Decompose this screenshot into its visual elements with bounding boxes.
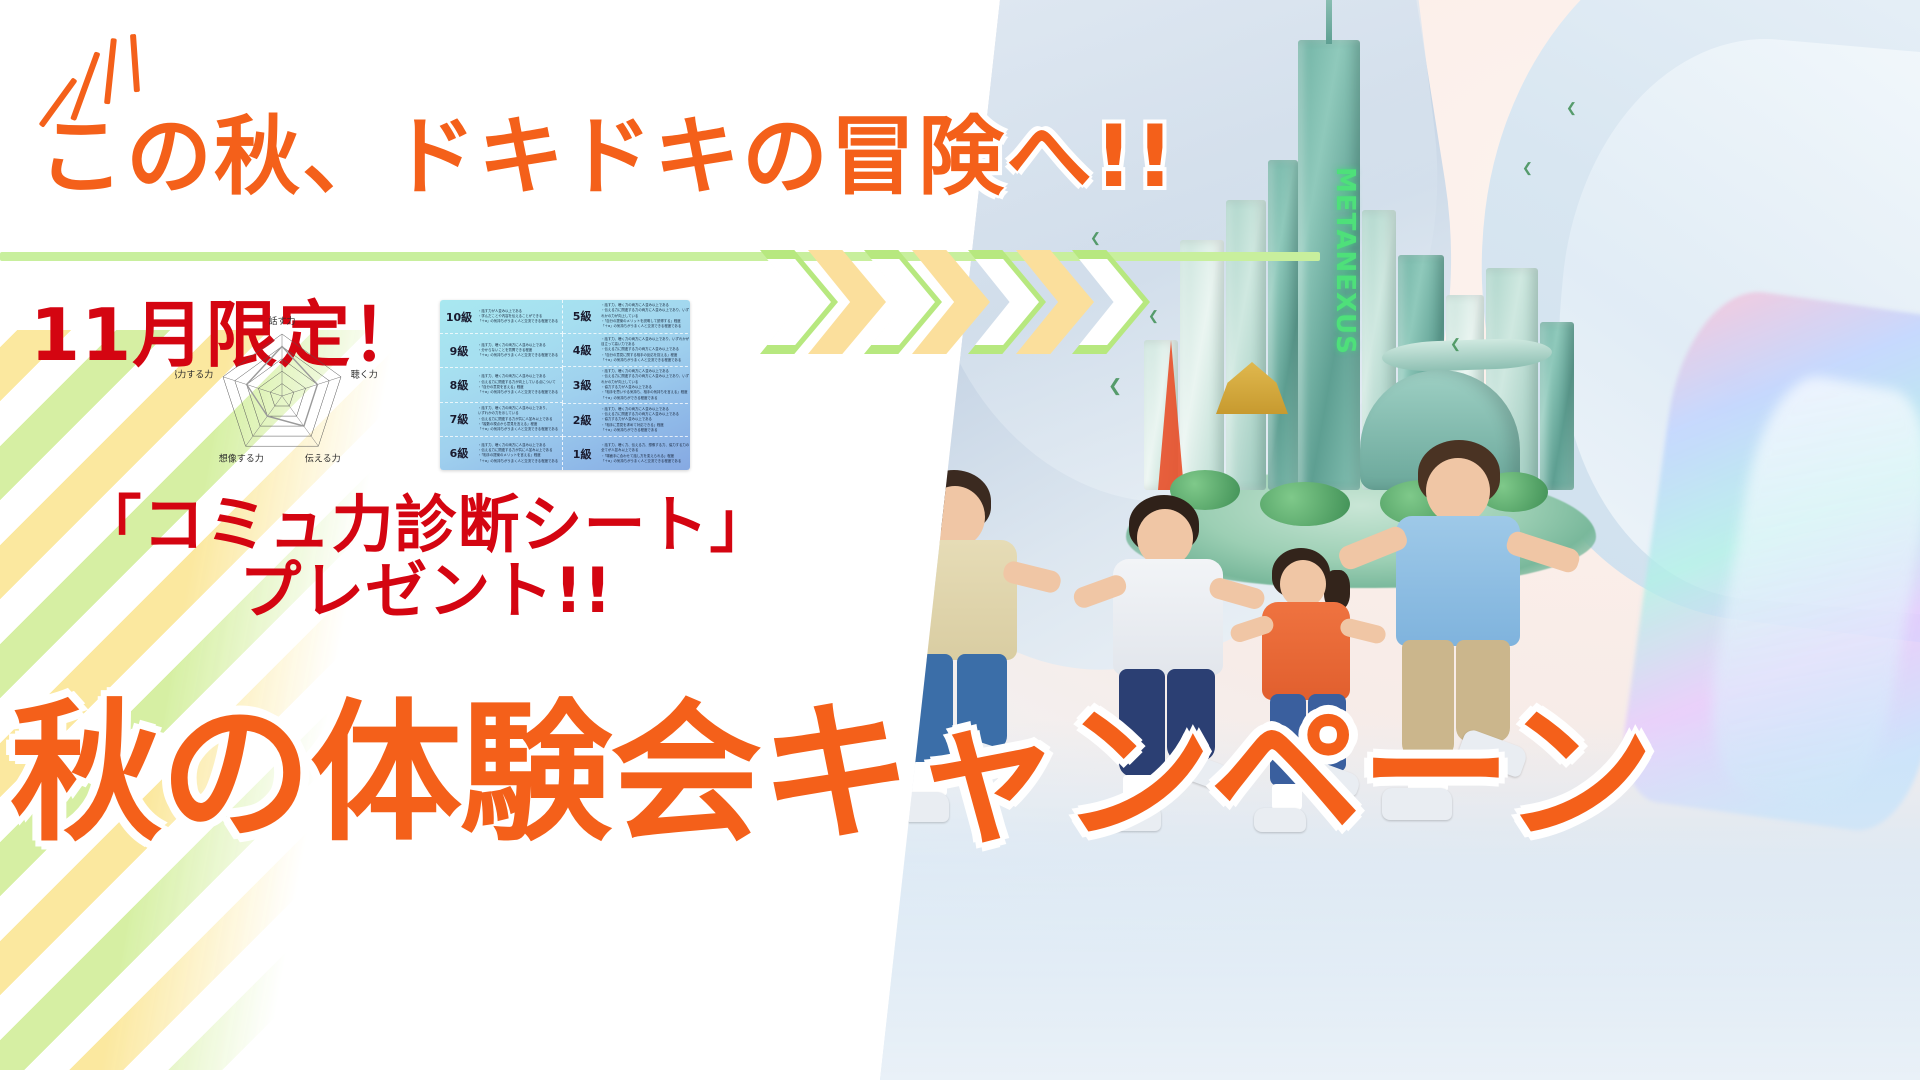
shirt	[1396, 516, 1520, 646]
sheet-row: 8級・話す力、聴く力の両方に人並み以上である・伝える力に関連する力が向上している…	[440, 368, 563, 402]
sheet-criteria-text: ・話す力、聴く力の両方に人並み以上である・伝える力に関連する力の両方に人並み以上…	[601, 369, 689, 401]
sheet-row: 5級・話す力、聴く力の両方に人並み以上である・伝える力に関連する力の両方に人並み…	[563, 300, 690, 334]
sheet-row: 2級・話す力、聴く力の両方に人並み以上である・伝える力に関連する力の両方に人並み…	[563, 404, 690, 438]
sheet-criteria-text: ・話す力、聴く力の両方に人並み以上であり、いずれかが目立って高い力である・伝える…	[601, 337, 689, 363]
red-tower	[1158, 340, 1184, 490]
radar-label: 聴く力	[351, 369, 378, 381]
sheet-grade-label: 6級	[444, 445, 474, 461]
diagnosis-sheet-table: 10級・話す力が人並み以上である・学んだことや内容を伝えることができる「＋α」の…	[440, 300, 690, 470]
present-line-2: プレゼント!!	[66, 558, 786, 624]
sheet-grade-label: 5級	[567, 308, 597, 324]
sheet-row: 10級・話す力が人並み以上である・学んだことや内容を伝えることができる「＋α」の…	[440, 300, 563, 334]
sheet-row: 7級・話す力、聴く力の両方に人並み以上であり、いずれかの力を示している・伝える力…	[440, 403, 563, 437]
building	[1180, 240, 1224, 490]
sheet-column-right: 5級・話す力、聴く力の両方に人並み以上である・伝える力に関連する力の両方に人並み…	[563, 300, 690, 470]
present-callout: 「コミュ力診断シート」 プレゼント!!	[66, 492, 786, 623]
building	[1226, 200, 1266, 490]
metanexus-label: METANEXUS	[1302, 136, 1356, 386]
sheet-grade-label: 3級	[567, 377, 597, 393]
sheet-grade-label: 9級	[444, 343, 474, 359]
sheet-criteria-text: ・話す力、聴く力、伝える力、想像する力、協力する力の全てが人並み以上である・「場…	[601, 443, 689, 464]
sheet-criteria-text: ・話す力、聴く力の両方に人並み以上である・伝える力に関連する力が共に人並み以上で…	[478, 443, 558, 464]
sheet-criteria-text: ・話す力、聴く力の両方に人並み以上である・伝える力に関連する力の両方に人並み以上…	[601, 407, 679, 433]
head	[1426, 458, 1490, 524]
radar-label: 想像する力	[219, 452, 264, 464]
sheet-grade-label: 2級	[567, 412, 597, 428]
sheet-grade-label: 10級	[444, 309, 474, 325]
page-headline: この秋、ドキドキの冒険へ!!	[38, 86, 1176, 211]
sheet-grade-label: 7級	[444, 411, 474, 427]
sheet-grade-label: 8級	[444, 377, 474, 393]
head	[1280, 560, 1326, 608]
radar-label: 話す力	[268, 315, 295, 327]
content-column: この秋、ドキドキの冒険へ!! 11月限定！ 話す力聴く力伝える力想像する力協力す…	[0, 0, 1160, 1080]
radar-label: 伝える力	[305, 452, 341, 464]
bird-icon: ❮	[1566, 100, 1577, 116]
building	[1268, 160, 1298, 490]
tower-spire	[1326, 0, 1332, 44]
present-line-1: 「コミュ力診断シート」	[66, 492, 786, 558]
radar-label: 協力する力	[175, 369, 213, 381]
sheet-row: 4級・話す力、聴く力の両方に人並み以上であり、いずれかが目立って高い力である・伝…	[563, 334, 690, 368]
radar-chart: 話す力聴く力伝える力想像する力協力する力	[175, 300, 390, 490]
sheet-grade-label: 4級	[567, 342, 597, 358]
promo-banner: METANEXUS ❮ ❮ ❮ ❮ ❮ ❮	[0, 0, 1920, 1080]
radar-axis-labels: 話す力聴く力伝える力想像する力協力する力	[175, 315, 378, 464]
radar-axes	[223, 334, 341, 446]
sheet-row: 1級・話す力、聴く力、伝える力、想像する力、協力する力の全てが人並み以上である・…	[563, 437, 690, 470]
sheet-criteria-text: ・話す力が人並み以上である・学んだことや内容を伝えることができる「＋α」の気持ち…	[478, 309, 558, 325]
radar-chart-svg: 話す力聴く力伝える力想像する力協力する力	[175, 300, 390, 490]
chevron-arrow-group	[760, 250, 1180, 360]
bird-icon: ❮	[1522, 160, 1533, 176]
sheet-grade-label: 1級	[567, 446, 597, 462]
sheet-criteria-text: ・話す力、聴く力の両方に人並み以上であり、いずれかの力を示している・伝える力に関…	[478, 406, 558, 432]
sheet-criteria-text: ・話す力、聴く力の両方に人並み以上である・伝える力に関連する力が向上している点に…	[478, 374, 558, 395]
sheet-column-left: 10級・話す力が人並み以上である・学んだことや内容を伝えることができる「＋α」の…	[440, 300, 563, 470]
bird-icon: ❮	[1450, 336, 1461, 352]
sheet-criteria-text: ・話す力、聴く力の両方に人並み以上である・伝える力に関連する力の両方に人並み以上…	[601, 303, 689, 329]
sheet-row: 3級・話す力、聴く力の両方に人並み以上である・伝える力に関連する力の両方に人並み…	[563, 367, 690, 404]
sheet-row: 9級・話す力、聴く力の両方に人並み以上である・分からないことを質問できる程度「＋…	[440, 334, 563, 368]
sheet-criteria-text: ・話す力、聴く力の両方に人並み以上である・分からないことを質問できる程度「＋α」…	[478, 343, 558, 359]
sheet-row: 6級・話す力、聴く力の両方に人並み以上である・伝える力に関連する力が共に人並み以…	[440, 437, 563, 470]
chevron-right-icon	[1072, 250, 1150, 354]
campaign-title: 秋の体験会キャンペーン	[10, 650, 1510, 870]
